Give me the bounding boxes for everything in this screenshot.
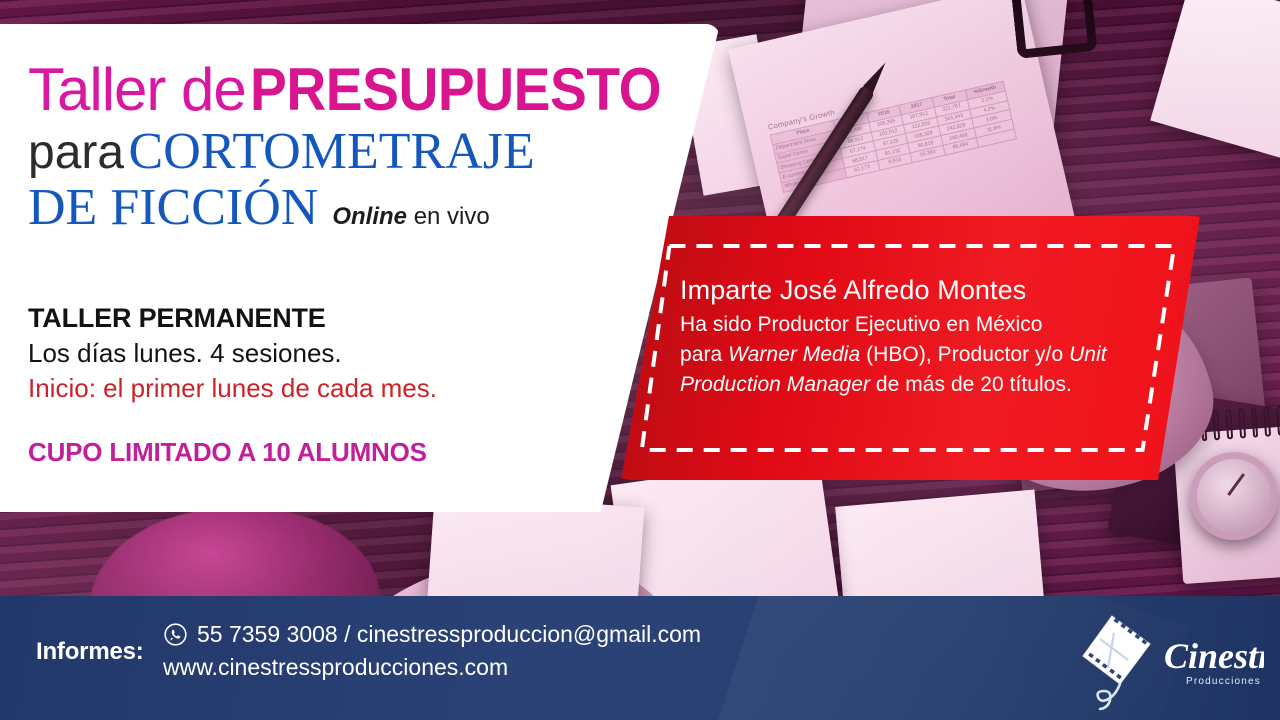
headline-line-3: DE FICCIÓN Online en vivo <box>28 182 588 234</box>
bio-line-1: Ha sido Productor Ejecutivo en México <box>680 313 1043 336</box>
contact-footer: Informes: 55 7359 3008 / cinestressprodu… <box>0 596 1280 720</box>
detail-schedule: Los días lunes. 4 sesiones. <box>28 336 568 371</box>
headline-taller-de: Taller de <box>28 56 246 123</box>
bio-unit: Unit <box>1069 343 1107 366</box>
whatsapp-icon <box>163 622 188 647</box>
bio-warner-media: Warner Media <box>728 343 860 366</box>
phone-and-email-text[interactable]: 55 7359 3008 / cinestressproduccion@gmai… <box>197 618 701 651</box>
online-italic: Online <box>332 203 407 230</box>
instructor-bio: Ha sido Productor Ejecutivo en México pa… <box>680 310 1150 399</box>
bio-pre: para <box>680 343 728 366</box>
bio-mid: (HBO), Productor y/o <box>860 343 1069 366</box>
headline-cortometraje: CORTOMETRAJE <box>129 123 535 180</box>
headline-de-ficcion: DE FICCIÓN <box>28 182 318 234</box>
contact-row-phone: 55 7359 3008 / cinestressproduccion@gmai… <box>163 618 701 651</box>
detail-heading: TALLER PERMANENTE <box>28 302 568 336</box>
bio-rest: de más de 20 títulos. <box>870 373 1072 396</box>
headline-group: Taller de PRESUPUESTO para CORTOMETRAJE … <box>28 60 588 234</box>
informes-label: Informes: <box>36 638 144 666</box>
contact-row-website: www.cinestressproducciones.com <box>163 651 701 684</box>
logo-brand-text: Cinestress <box>1164 636 1264 676</box>
instructor-name: Imparte José Alfredo Montes <box>680 274 1150 306</box>
promo-poster: Company's Growth Place 2015 2016 2017 To… <box>0 0 1280 720</box>
instructor-callout: Imparte José Alfredo Montes Ha sido Prod… <box>612 216 1212 480</box>
film-kite-icon <box>1083 616 1150 709</box>
detail-capacity: CUPO LIMITADO A 10 ALUMNOS <box>28 436 568 470</box>
logo-tagline-text: Producciones <box>1186 676 1261 687</box>
website-text[interactable]: www.cinestressproducciones.com <box>163 651 508 684</box>
headline-online-en-vivo: Online en vivo <box>332 205 489 229</box>
instructor-text-group: Imparte José Alfredo Montes Ha sido Prod… <box>680 274 1150 400</box>
contact-info-group: 55 7359 3008 / cinestressproduccion@gmai… <box>163 618 701 685</box>
headline-line-1: Taller de PRESUPUESTO <box>28 60 588 120</box>
workshop-details-group: TALLER PERMANENTE Los días lunes. 4 sesi… <box>28 302 568 470</box>
headline-para: para <box>28 126 124 179</box>
headline-presupuesto: PRESUPUESTO <box>250 60 661 120</box>
headline-line-2: para CORTOMETRAJE <box>28 126 588 178</box>
detail-start-date: Inicio: el primer lunes de cada mes. <box>28 371 568 406</box>
bio-production-manager: Production Manager <box>680 373 870 396</box>
cinestress-logo: Cinestress Producciones <box>1068 606 1264 716</box>
en-vivo-text: en vivo <box>414 203 490 230</box>
